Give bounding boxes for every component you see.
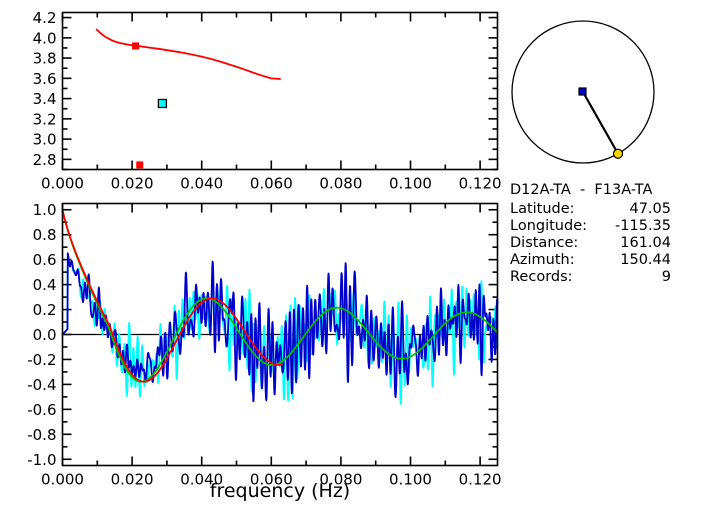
dispersion-tick-marks bbox=[63, 13, 498, 170]
latitude-row-label: Latitude: bbox=[510, 201, 575, 217]
y-tick-label: 4.2 bbox=[33, 9, 57, 27]
dispersion-plot-frame bbox=[63, 13, 498, 170]
figure-root: 2.83.03.23.43.63.84.04.2 0.0000.0200.040… bbox=[0, 0, 702, 519]
y-tick-label: 3.6 bbox=[33, 70, 57, 88]
azimuth-compass bbox=[500, 12, 680, 182]
azimuth-row-label: Azimuth: bbox=[510, 252, 575, 268]
distance-row-label: Distance: bbox=[510, 235, 578, 251]
latitude-row-value: 47.05 bbox=[629, 201, 671, 217]
y-tick-label: 0.0 bbox=[33, 326, 57, 344]
info-panel: D12A-TA - F13A-TALatitude:47.05Longitude… bbox=[506, 180, 702, 300]
compass-station-marker bbox=[614, 149, 623, 158]
dispersion-marker bbox=[136, 161, 143, 168]
x-axis-title: frequency (Hz) bbox=[210, 480, 350, 502]
dispersion-x-tick-labels: 0.0000.0200.0400.0600.0800.1000.120 bbox=[41, 175, 502, 193]
x-tick-label: 0.060 bbox=[250, 175, 293, 193]
y-tick-label: 0.4 bbox=[33, 276, 57, 294]
y-tick-label: 4.0 bbox=[33, 29, 57, 47]
x-tick-label: 0.120 bbox=[459, 175, 502, 193]
station-pair-label: D12A-TA - F13A-TA bbox=[510, 182, 652, 198]
longitude-row-value: -115.35 bbox=[615, 218, 671, 234]
y-tick-label: 3.4 bbox=[33, 90, 57, 108]
y-tick-label: -0.4 bbox=[27, 376, 56, 394]
dispersion-y-tick-labels: 2.83.03.23.43.63.84.04.2 bbox=[33, 9, 57, 169]
records-row-value: 9 bbox=[662, 269, 671, 285]
y-tick-label: 3.0 bbox=[33, 131, 57, 149]
x-tick-label: 0.020 bbox=[111, 471, 154, 489]
y-tick-label: -0.6 bbox=[27, 401, 56, 419]
x-tick-label: 0.120 bbox=[459, 471, 502, 489]
y-tick-label: 0.6 bbox=[33, 251, 57, 269]
azimuth-row-value: 150.44 bbox=[620, 252, 671, 268]
x-tick-label: 0.040 bbox=[180, 175, 223, 193]
x-tick-label: 0.080 bbox=[319, 175, 362, 193]
y-tick-label: 0.8 bbox=[33, 226, 57, 244]
x-tick-label: 0.100 bbox=[389, 471, 432, 489]
y-tick-label: -0.2 bbox=[27, 351, 56, 369]
spectra-traces bbox=[63, 210, 498, 404]
y-tick-label: 1.0 bbox=[33, 201, 57, 219]
y-tick-label: 2.8 bbox=[33, 151, 57, 169]
x-tick-label: 0.020 bbox=[111, 175, 154, 193]
compass-azimuth-ray bbox=[583, 92, 618, 154]
dispersion-curve bbox=[97, 30, 280, 79]
x-tick-label: 0.000 bbox=[41, 471, 84, 489]
dispersion-traces bbox=[97, 30, 280, 169]
x-tick-label: 0.100 bbox=[389, 175, 432, 193]
dispersion-marker bbox=[158, 99, 166, 107]
y-tick-label: -1.0 bbox=[27, 451, 56, 469]
y-tick-label: 0.2 bbox=[33, 301, 57, 319]
compass-center-marker bbox=[579, 88, 586, 95]
longitude-row-label: Longitude: bbox=[510, 218, 587, 234]
dispersion-marker bbox=[132, 42, 139, 49]
y-tick-label: -0.8 bbox=[27, 426, 56, 444]
records-row-label: Records: bbox=[510, 269, 573, 285]
x-tick-label: 0.000 bbox=[41, 175, 84, 193]
distance-row-value: 161.04 bbox=[620, 235, 671, 251]
y-tick-label: 3.2 bbox=[33, 110, 57, 128]
y-tick-label: 3.8 bbox=[33, 50, 57, 68]
spectra-y-tick-labels: -1.0-0.8-0.6-0.4-0.20.00.20.40.60.81.0 bbox=[27, 201, 56, 469]
